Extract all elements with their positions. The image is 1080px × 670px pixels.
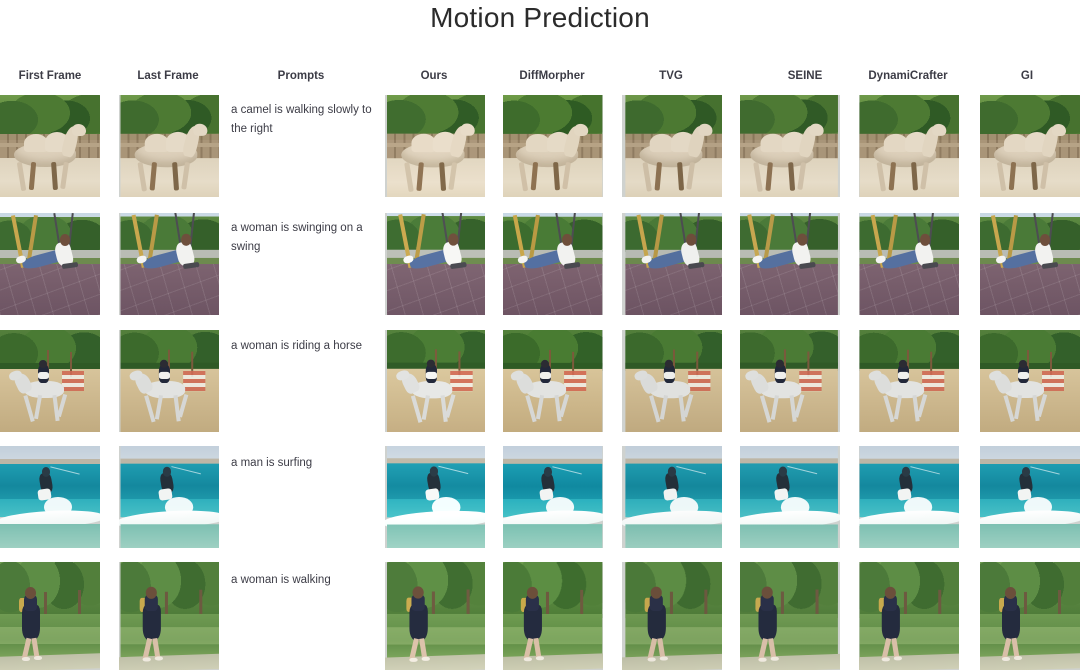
person-head — [448, 234, 458, 245]
rider-head — [541, 359, 549, 367]
scene-swing — [0, 213, 100, 315]
surfer-head — [544, 467, 552, 476]
scene-camel — [503, 95, 602, 197]
person-head — [885, 587, 896, 599]
person-shoe — [660, 656, 668, 660]
person-head — [686, 234, 696, 245]
scene-swing — [860, 213, 959, 315]
prompt-text-swing: a woman is swinging on a swing — [231, 219, 381, 257]
camel-head — [932, 123, 946, 135]
scene-surf — [740, 446, 838, 548]
rider-shirt — [664, 372, 675, 379]
person-head — [1005, 587, 1016, 599]
rider-shirt — [540, 372, 551, 379]
path — [980, 653, 1080, 670]
pavement — [503, 264, 602, 315]
rider-shirt — [426, 372, 437, 379]
person-shoe — [771, 657, 779, 661]
frame-surf-diffmorpher — [503, 446, 603, 548]
scene-camel — [121, 95, 220, 197]
frame-horse-diffmorpher — [503, 330, 603, 432]
scene-horse — [860, 330, 959, 432]
scene-swing — [740, 213, 838, 315]
frame-surf-first_frame — [0, 446, 100, 548]
frame-swing-diffmorpher — [503, 213, 603, 315]
frame-surf-last_frame — [119, 446, 219, 548]
person-shoe — [536, 656, 544, 660]
pavement — [387, 264, 485, 315]
rider-head — [1019, 360, 1027, 368]
grass-highlight — [503, 627, 602, 644]
beach-shallows — [387, 524, 485, 548]
scene-camel — [980, 95, 1080, 197]
person-head — [146, 587, 157, 599]
surfer-head — [668, 467, 676, 476]
frame-surf-tvg — [622, 446, 722, 548]
scene-surf — [860, 446, 959, 548]
beach-shallows — [503, 524, 602, 548]
foliage — [860, 562, 959, 618]
prompt-text-walk: a woman is walking — [231, 571, 381, 590]
frame-walk-dynamicrafter — [859, 562, 959, 670]
scene-horse — [121, 330, 220, 432]
scene-walk — [503, 562, 602, 670]
surfer-head — [163, 467, 171, 476]
frame-swing-last_frame — [119, 213, 219, 315]
rider-head — [39, 360, 47, 368]
frame-camel-diffmorpher — [503, 95, 603, 197]
path — [119, 653, 219, 670]
path — [385, 654, 485, 670]
frame-camel-seine — [740, 95, 840, 197]
jump-obstacle — [62, 371, 84, 391]
beach-shallows — [625, 524, 722, 548]
person-head — [1040, 234, 1050, 245]
scene-surf — [387, 446, 485, 548]
grass-highlight — [387, 627, 485, 645]
camel-head — [574, 123, 588, 135]
scene-horse — [980, 330, 1080, 432]
jump-obstacle — [688, 371, 710, 392]
frame-walk-ours — [385, 562, 485, 670]
frame-horse-dynamicrafter — [859, 330, 959, 432]
scene-swing — [625, 213, 722, 315]
scene-surf — [0, 446, 100, 548]
grass-highlight — [121, 627, 220, 644]
person-shoe — [34, 656, 42, 660]
jump-obstacle — [922, 371, 944, 392]
person-head — [60, 234, 70, 245]
jump-obstacle — [1042, 371, 1064, 391]
person-shoe — [422, 657, 430, 661]
person-head — [413, 586, 424, 598]
scene-camel — [860, 95, 959, 197]
foliage — [980, 562, 1080, 618]
surfer-head — [902, 467, 910, 476]
foliage — [121, 562, 220, 618]
scene-camel — [740, 95, 838, 197]
frame-surf-ours — [385, 446, 485, 548]
person-head — [562, 234, 572, 245]
frame-surf-dynamicrafter — [859, 446, 959, 548]
frame-horse-seine — [740, 330, 840, 432]
frame-horse-gi — [980, 330, 1080, 432]
camel-head — [460, 123, 474, 135]
person-head — [527, 587, 538, 599]
person-head — [797, 234, 807, 245]
camel-head — [809, 123, 823, 135]
surfer-head — [1022, 467, 1030, 476]
pavement — [740, 264, 838, 315]
path — [0, 653, 100, 670]
scene-walk — [121, 562, 220, 670]
scene-horse — [625, 330, 722, 432]
rider-shirt — [898, 372, 909, 379]
pavement — [0, 264, 100, 315]
rider-shirt — [1018, 372, 1029, 379]
frame-swing-ours — [385, 213, 485, 315]
frame-horse-tvg — [622, 330, 722, 432]
foliage — [387, 562, 485, 618]
camel-head — [1052, 124, 1066, 136]
scene-surf — [980, 446, 1080, 548]
scene-walk — [980, 562, 1080, 670]
frame-surf-seine — [740, 446, 840, 548]
frame-walk-gi — [980, 562, 1080, 670]
pavement — [860, 264, 959, 315]
person-head — [762, 586, 773, 598]
rider-shirt — [775, 372, 786, 379]
grass-highlight — [740, 627, 838, 645]
frame-swing-gi — [980, 213, 1080, 315]
path — [622, 653, 722, 670]
foliage — [0, 562, 100, 618]
grass-highlight — [0, 627, 100, 644]
frame-swing-first_frame — [0, 213, 100, 315]
scene-horse — [740, 330, 838, 432]
jump-obstacle — [450, 371, 472, 392]
scene-camel — [387, 95, 485, 197]
pavement — [121, 264, 220, 315]
frame-horse-first_frame — [0, 330, 100, 432]
person-head — [920, 234, 930, 245]
foliage — [625, 562, 722, 618]
frame-swing-dynamicrafter — [859, 213, 959, 315]
scene-surf — [121, 446, 220, 548]
scene-camel — [625, 95, 722, 197]
surfer-head — [779, 467, 787, 476]
camel-head — [698, 123, 712, 135]
scene-horse — [387, 330, 485, 432]
surfer-head — [430, 467, 438, 476]
frame-surf-gi — [980, 446, 1080, 548]
scene-walk — [387, 562, 485, 670]
prompt-text-surf: a man is surfing — [231, 454, 381, 473]
scene-walk — [860, 562, 959, 670]
prompt-text-horse: a woman is riding a horse — [231, 337, 381, 356]
scene-surf — [625, 446, 722, 548]
person-shoe — [1014, 656, 1022, 660]
beach-shallows — [0, 524, 100, 548]
comparison-grid: a camel is walking slowly to the righta … — [0, 0, 1080, 670]
beach-shallows — [121, 524, 220, 548]
rider-head — [160, 359, 168, 367]
scene-walk — [740, 562, 838, 670]
person-shoe — [155, 656, 163, 660]
scene-camel — [0, 95, 100, 197]
rider-head — [427, 359, 435, 367]
scene-walk — [625, 562, 722, 670]
camel-head — [193, 123, 207, 135]
frame-camel-ours — [385, 95, 485, 197]
surfer-head — [42, 467, 50, 476]
frame-walk-last_frame — [119, 562, 219, 670]
rider-head — [899, 359, 907, 367]
frame-camel-first_frame — [0, 95, 100, 197]
scene-swing — [980, 213, 1080, 315]
jump-obstacle — [183, 371, 205, 392]
scene-swing — [387, 213, 485, 315]
frame-camel-tvg — [622, 95, 722, 197]
frame-walk-diffmorpher — [503, 562, 603, 670]
rider-shirt — [38, 372, 49, 379]
person-head — [181, 234, 191, 245]
scene-surf — [503, 446, 602, 548]
grass-highlight — [860, 627, 959, 644]
frame-walk-tvg — [622, 562, 722, 670]
person-shoe — [894, 656, 902, 660]
scene-horse — [503, 330, 602, 432]
person-head — [25, 587, 36, 599]
frame-walk-first_frame — [0, 562, 100, 670]
frame-camel-last_frame — [119, 95, 219, 197]
motion-prediction-figure: Motion Prediction First FrameLast FrameP… — [0, 0, 1080, 670]
grass-highlight — [625, 627, 722, 644]
rider-head — [776, 359, 784, 367]
prompt-text-camel: a camel is walking slowly to the right — [231, 101, 381, 139]
frame-camel-dynamicrafter — [859, 95, 959, 197]
person-head — [651, 586, 662, 598]
beach-shallows — [740, 524, 838, 548]
frame-camel-gi — [980, 95, 1080, 197]
scene-swing — [503, 213, 602, 315]
path — [503, 653, 603, 670]
scene-swing — [121, 213, 220, 315]
beach-shallows — [860, 524, 959, 548]
frame-swing-tvg — [622, 213, 722, 315]
jump-obstacle — [799, 371, 821, 392]
scene-horse — [0, 330, 100, 432]
frame-horse-last_frame — [119, 330, 219, 432]
pavement — [625, 264, 722, 315]
path — [859, 653, 959, 670]
frame-horse-ours — [385, 330, 485, 432]
rider-head — [665, 359, 673, 367]
grass-highlight — [980, 627, 1080, 644]
rider-shirt — [159, 372, 170, 379]
frame-swing-seine — [740, 213, 840, 315]
foliage — [503, 562, 602, 618]
path — [740, 654, 840, 670]
camel-head — [72, 124, 86, 136]
scene-walk — [0, 562, 100, 670]
jump-obstacle — [564, 371, 586, 391]
frame-walk-seine — [740, 562, 840, 670]
beach-shallows — [980, 524, 1080, 548]
pavement — [980, 264, 1080, 315]
